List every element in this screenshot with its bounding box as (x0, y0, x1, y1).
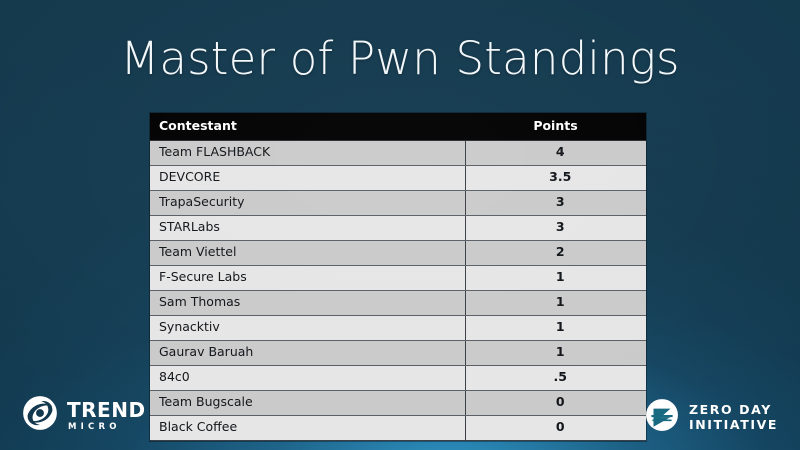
table-row: DEVCORE3.5 (150, 165, 646, 190)
trend-micro-logo: TREND MICRO (22, 395, 146, 436)
cell-contestant: TrapaSecurity (150, 190, 465, 215)
page-title: Master of Pwn Standings (0, 32, 800, 85)
table-row: Synacktiv1 (150, 315, 646, 340)
zdi-z-bolt-icon (645, 398, 679, 437)
trend-micro-line2: MICRO (68, 423, 146, 432)
cell-contestant: F-Secure Labs (150, 265, 465, 290)
cell-points: 1 (465, 315, 646, 340)
zdi-line2: INITIATIVE (689, 418, 778, 433)
cell-points: 3 (465, 215, 646, 240)
cell-contestant: Team FLASHBACK (150, 140, 465, 165)
table-row: Team Viettel2 (150, 240, 646, 265)
cell-points: 1 (465, 340, 646, 365)
table-row: Team Bugscale0 (150, 390, 646, 415)
cell-points: 4 (465, 140, 646, 165)
table-row: F-Secure Labs1 (150, 265, 646, 290)
table-row: 84c0.5 (150, 365, 646, 390)
zdi-line1: ZERO DAY (689, 403, 778, 418)
cell-contestant: Team Viettel (150, 240, 465, 265)
table-header-row: Contestant Points (150, 113, 646, 140)
cell-points: 2 (465, 240, 646, 265)
table-header: Contestant Points (150, 113, 646, 140)
table-row: Black Coffee0 (150, 415, 646, 440)
slide-canvas: Master of Pwn Standings Contestant Point… (0, 0, 800, 450)
cell-contestant: Team Bugscale (150, 390, 465, 415)
cell-points: 0 (465, 390, 646, 415)
cell-points: 0 (465, 415, 646, 440)
cell-contestant: STARLabs (150, 215, 465, 240)
trend-micro-swirl-icon (22, 395, 58, 436)
cell-contestant: 84c0 (150, 365, 465, 390)
column-header-contestant: Contestant (150, 113, 465, 140)
table-row: Team FLASHBACK4 (150, 140, 646, 165)
cell-points: .5 (465, 365, 646, 390)
cell-points: 1 (465, 265, 646, 290)
column-header-points: Points (465, 113, 646, 140)
table-row: TrapaSecurity3 (150, 190, 646, 215)
standings-table: Contestant Points Team FLASHBACK4DEVCORE… (150, 113, 646, 441)
table-row: Sam Thomas1 (150, 290, 646, 315)
cell-contestant: DEVCORE (150, 165, 465, 190)
table-body: Team FLASHBACK4DEVCORE3.5TrapaSecurity3S… (150, 140, 646, 440)
table-row: Gaurav Baruah1 (150, 340, 646, 365)
cell-points: 1 (465, 290, 646, 315)
zero-day-initiative-logo: ZERO DAY INITIATIVE (645, 398, 778, 437)
cell-contestant: Gaurav Baruah (150, 340, 465, 365)
table-row: STARLabs3 (150, 215, 646, 240)
cell-contestant: Black Coffee (150, 415, 465, 440)
cell-points: 3.5 (465, 165, 646, 190)
cell-points: 3 (465, 190, 646, 215)
cell-contestant: Synacktiv (150, 315, 465, 340)
cell-contestant: Sam Thomas (150, 290, 465, 315)
trend-micro-line1: TREND (67, 400, 146, 420)
standings-table-container: Contestant Points Team FLASHBACK4DEVCORE… (150, 113, 646, 441)
trend-micro-wordmark: TREND MICRO (67, 400, 146, 432)
zdi-wordmark: ZERO DAY INITIATIVE (689, 403, 778, 433)
